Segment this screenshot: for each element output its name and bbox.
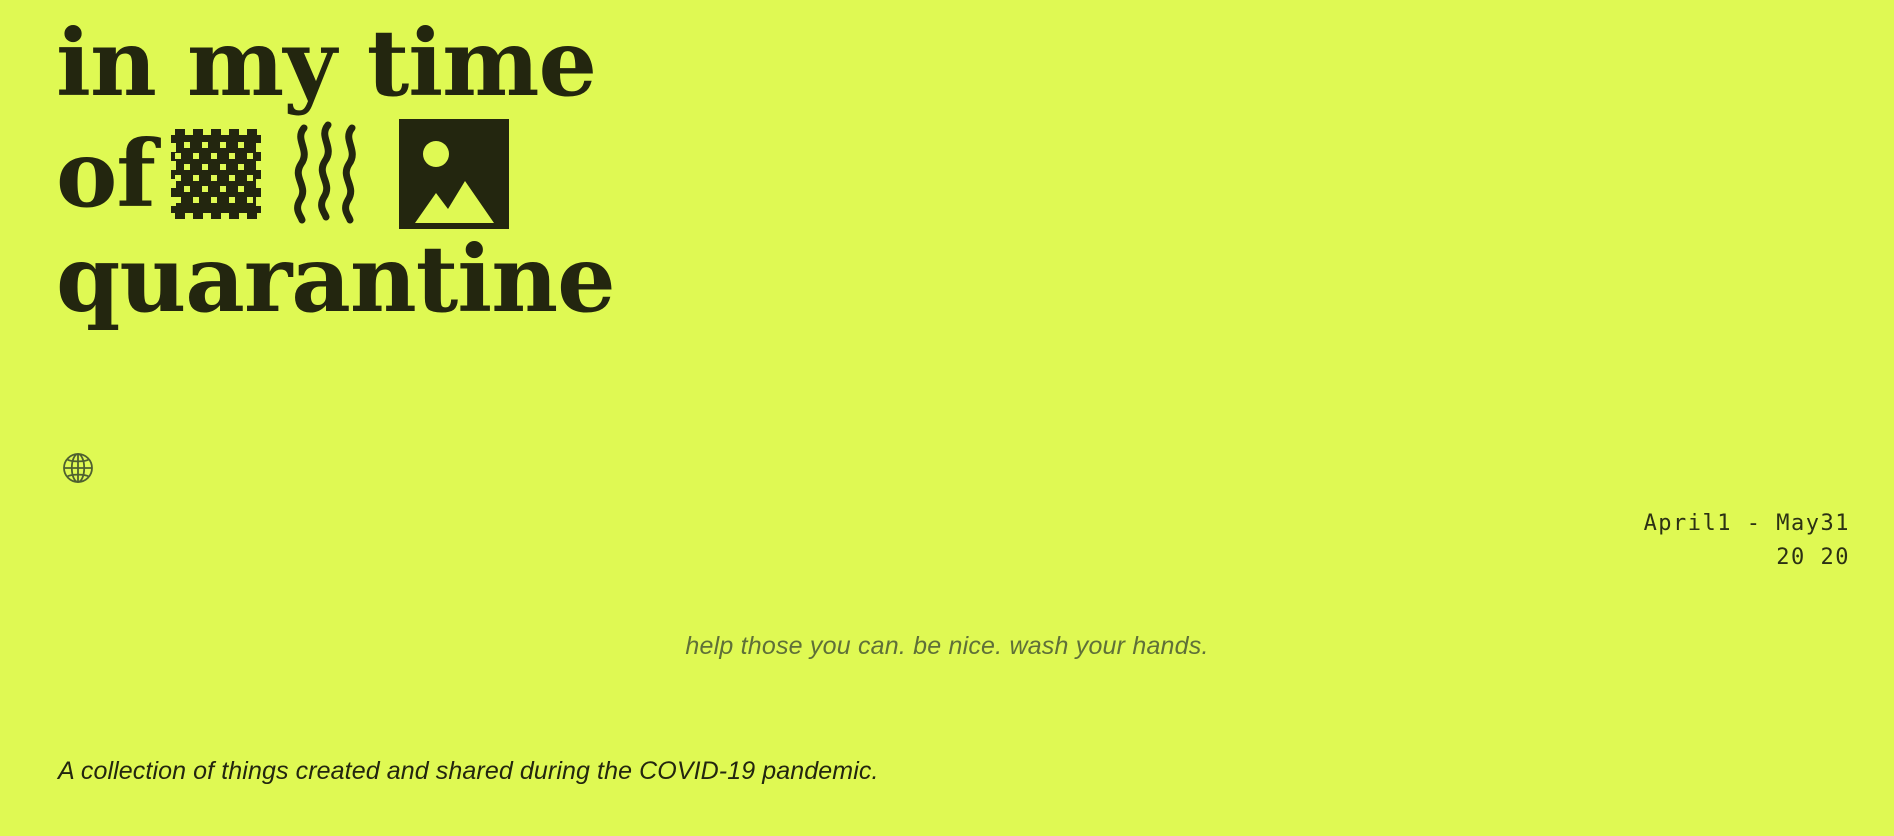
tagline: help those you can. be nice. wash your h… <box>0 632 1894 661</box>
woven-pattern-glyph <box>171 129 261 219</box>
masthead: in my time of <box>56 18 876 324</box>
date-block: April1 - May31 20 20 <box>1644 507 1850 575</box>
page-root: in my time of <box>0 0 1894 836</box>
globe-icon[interactable] <box>58 448 98 488</box>
picture-landscape-glyph <box>399 119 509 229</box>
title-line-three: quarantine <box>56 234 876 324</box>
wavy-lines-glyph <box>291 120 361 228</box>
title-word-of: of <box>56 129 155 219</box>
page-description: A collection of things created and share… <box>58 757 879 786</box>
title-line-one: in my time <box>56 18 876 108</box>
date-year: 20 20 <box>1644 541 1850 575</box>
title-line-two: of <box>56 112 876 236</box>
date-range: April1 - May31 <box>1644 507 1850 541</box>
